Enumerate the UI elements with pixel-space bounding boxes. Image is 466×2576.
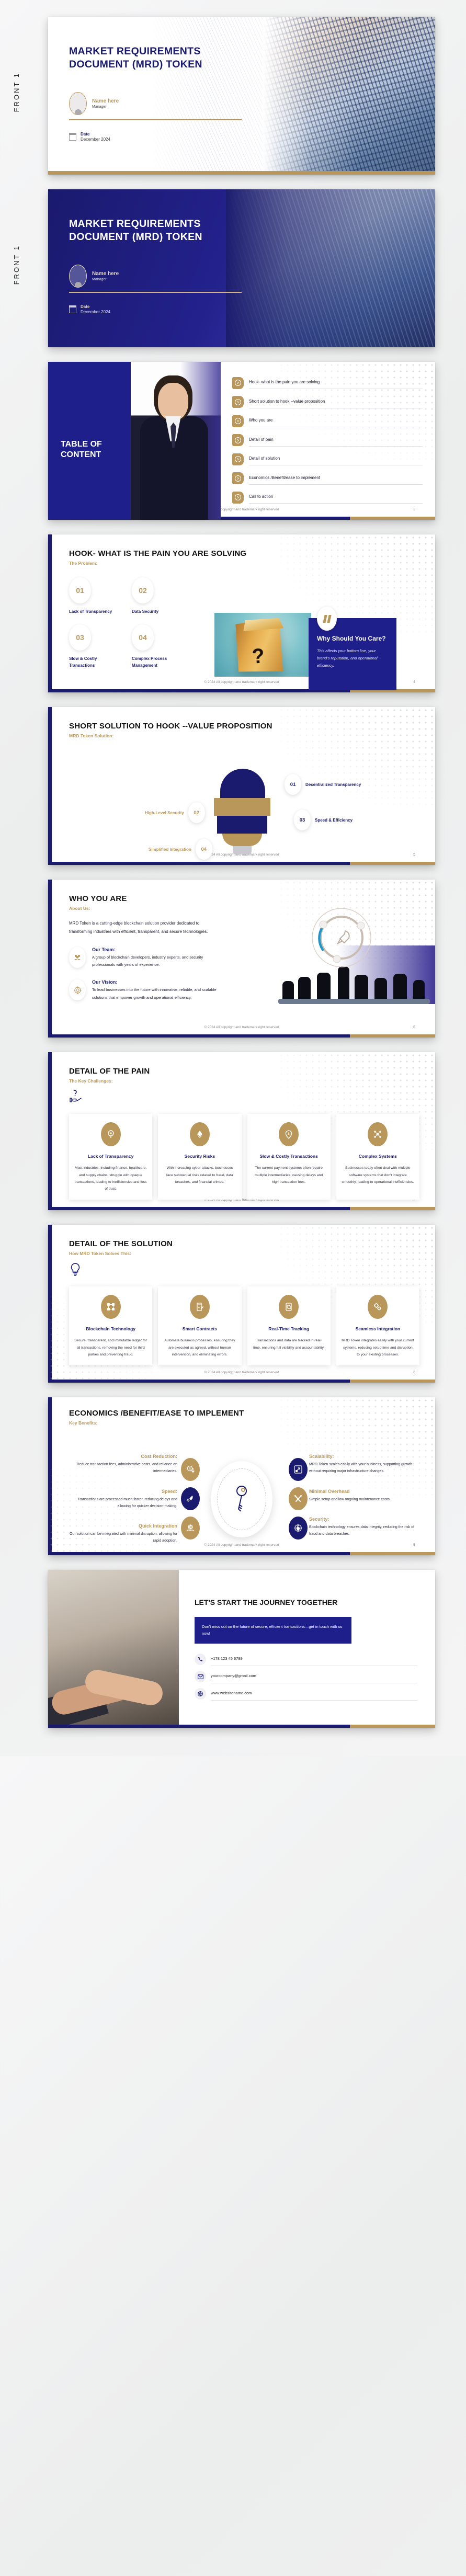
hook-title: HOOK- WHAT IS THE PAIN YOU ARE SOLVING — [69, 549, 435, 558]
solution-card-0[interactable]: Blockchain Technology Secure, transparen… — [69, 1286, 152, 1365]
chevron-right-icon — [232, 492, 244, 504]
globe-hands-icon — [181, 1517, 200, 1540]
toc-item-label-3: Detail of pain — [249, 437, 274, 442]
slide-4-hook: HOOK- WHAT IS THE PAIN YOU ARE SOLVING T… — [0, 527, 466, 700]
cover-date-value-navy: December 2024 — [81, 310, 110, 314]
pain-title: DETAIL OF THE PAIN — [69, 1067, 435, 1076]
hook-slide[interactable]: HOOK- WHAT IS THE PAIN YOU ARE SOLVING T… — [48, 534, 435, 692]
solution-card-2[interactable]: Real-Time Tracking Transactions and data… — [247, 1286, 331, 1365]
toc-item-5[interactable]: Economics /Benefit/ease to implement — [232, 469, 423, 488]
avatar-placeholder-icon — [69, 92, 87, 115]
blockchain-link-icon — [101, 1295, 121, 1319]
cover-date-value: December 2024 — [81, 137, 110, 142]
solution-card-body-0: Secure, transparent, and immutable ledge… — [74, 1337, 147, 1358]
hook-point-number-2: 03 — [69, 624, 91, 651]
calendar-icon — [69, 305, 76, 313]
who-item-body-1: To lead businesses into the future with … — [92, 986, 226, 1001]
cta-contact-value-1: yourcompany@gmail.com — [211, 1673, 256, 1678]
footer-page-number: 3 — [413, 508, 415, 511]
toc-item-6[interactable]: Call to action — [232, 488, 423, 507]
cta-contact-website[interactable]: www.websitename.com — [195, 1688, 417, 1701]
valueprop-item-1: High-Level Security 02 — [145, 802, 205, 823]
tools-icon — [289, 1487, 308, 1510]
pain-card-body-1: With increasing cyber-attacks, businesse… — [163, 1165, 236, 1186]
slide-8-detail-of-solution: DETAIL OF THE SOLUTION How MRD Token Sol… — [0, 1217, 466, 1390]
slide-side-label: FRONT 1 — [13, 72, 20, 112]
valueprop-label-2: Speed & Efficiency — [315, 818, 353, 823]
pain-card-title-2: Slow & Costly Transactions — [253, 1153, 325, 1160]
contract-pen-icon — [190, 1295, 210, 1319]
solution-card-body-2: Transactions and data are tracked in rea… — [253, 1337, 325, 1351]
cover-author-role: Manager — [92, 105, 119, 109]
who-item-heading-0: Our Team: — [92, 947, 226, 952]
cover-author-role-navy: Manager — [92, 278, 119, 281]
slide-footer: © 2024 All copyright and trademark right… — [48, 1025, 435, 1029]
footer-copyright: © 2024 All copyright and trademark right… — [204, 680, 279, 684]
who-item-team: Our Team: A group of blockchain develope… — [69, 947, 226, 969]
toc-list: Hook- what is the pain you are solving S… — [232, 373, 423, 507]
why-should-you-care-callout: Why Should You Care? This affects your b… — [309, 618, 396, 690]
economics-subtitle: Key Benefits: — [69, 1420, 435, 1426]
valueprop-num-1: 02 — [188, 802, 205, 823]
tracking-search-icon — [279, 1295, 299, 1319]
cover-author-block-navy: Name here Manager — [69, 265, 435, 288]
economics-heading-right-0: Scalability: — [309, 1454, 422, 1459]
pain-card-1[interactable]: Security Risks With increasing cyber-att… — [158, 1114, 241, 1200]
cover-title: MARKET REQUIREMENTS DOCUMENT (MRD) TOKEN — [69, 45, 226, 71]
cover-author-name: Name here — [92, 98, 119, 104]
cta-message-box: Don't miss out on the future of secure, … — [195, 1617, 351, 1643]
callout-body: This affects your bottom line, your bran… — [317, 647, 388, 669]
who-item-body-0: A group of blockchain developers, indust… — [92, 954, 226, 969]
toc-item-label-2: Who you are — [249, 418, 272, 423]
valueprop-item-0: 01 Decentralized Transparency — [285, 774, 361, 795]
who-subtitle: About Us: — [69, 906, 435, 911]
slide-9-economics: ECONOMICS /BENEFIT/EASE TO IMPLEMENT Key… — [0, 1390, 466, 1563]
cost-down-icon: $ — [181, 1458, 200, 1481]
cta-contact-value-2: www.websitename.com — [211, 1691, 252, 1695]
svg-text:$: $ — [288, 1133, 290, 1136]
slide-bottom-bars — [48, 1207, 435, 1210]
economics-item-left-2: Quick Integration Our solution can be in… — [65, 1523, 177, 1545]
solution-card-title-3: Seamless Integration — [342, 1325, 414, 1332]
pain-card-body-0: Most industries, including finance, heal… — [74, 1165, 147, 1192]
callout-heading: Why Should You Care? — [317, 634, 388, 643]
call-to-action-slide[interactable]: LET'S START THE JOURNEY TOGETHER Don't m… — [48, 1570, 435, 1728]
toc-item-1[interactable]: Short solution to hook --value propositi… — [232, 393, 423, 412]
who-you-are-slide[interactable]: WHO YOU ARE About Us: MRD Token is a cut… — [48, 880, 435, 1038]
globe-shield-icon — [289, 1517, 308, 1540]
toc-title-panel: TABLE OF CONTENT — [48, 362, 131, 520]
mystery-box-question-mark-image — [214, 613, 311, 677]
hook-point-label-3: Complex Process Management — [132, 656, 182, 669]
hook-point-label-0: Lack of Transparency — [69, 609, 119, 615]
cta-contact-phone[interactable]: +178 123 45 6789 — [195, 1653, 417, 1666]
solution-title: DETAIL OF THE SOLUTION — [69, 1239, 435, 1248]
calendar-icon — [69, 133, 76, 141]
valueprop-num-0: 01 — [285, 774, 301, 795]
slide-7-detail-of-pain: DETAIL OF THE PAIN The Key Challenges: — [0, 1045, 466, 1217]
solution-cards: Blockchain Technology Secure, transparen… — [69, 1286, 419, 1365]
cover-author-name-navy: Name here — [92, 271, 119, 277]
chevron-right-icon — [232, 415, 244, 427]
slide-5-value-proposition: SHORT SOLUTION TO HOOK --VALUE PROPOSITI… — [0, 700, 466, 872]
economics-body-left-1: Transactions are processed much faster, … — [65, 1496, 177, 1510]
slide-3-table-of-content: TABLE OF CONTENT Hook- what is the pain … — [0, 355, 466, 527]
slide-bottom-bars — [48, 1725, 435, 1728]
cover-title-navy: MARKET REQUIREMENTS DOCUMENT (MRD) TOKEN — [69, 218, 226, 244]
solution-card-body-3: MRD Token integrates easily with your cu… — [342, 1337, 414, 1358]
cover-divider-navy — [69, 292, 242, 293]
hook-point-2: 03 Slow & Costly Transactions — [69, 624, 127, 669]
solution-card-title-0: Blockchain Technology — [74, 1325, 147, 1332]
phone-icon — [195, 1654, 206, 1665]
pain-card-0[interactable]: Lack of Transparency Most industries, in… — [69, 1114, 152, 1200]
hook-point-0: 01 Lack of Transparency — [69, 577, 127, 615]
economics-heading-right-2: Security: — [309, 1517, 422, 1522]
pain-cards: Lack of Transparency Most industries, in… — [69, 1114, 419, 1200]
hand-question-icon — [69, 1090, 435, 1103]
gears-integration-icon — [368, 1295, 388, 1319]
slide-6-who-you-are: WHO YOU ARE About Us: MRD Token is a cut… — [0, 872, 466, 1045]
cover-slide[interactable]: MARKET REQUIREMENTS DOCUMENT (MRD) TOKEN… — [48, 17, 435, 175]
economics-body-left-2: Our solution can be integrated with mini… — [65, 1531, 177, 1545]
pain-card-body-3: Businesses today often deal with multipl… — [342, 1165, 414, 1186]
valueprop-label-1: High-Level Security — [145, 811, 184, 815]
economics-item-left-1: Speed: Transactions are processed much f… — [65, 1489, 177, 1510]
toc-item-label-5: Economics /Benefit/ease to implement — [249, 475, 320, 480]
footer-page-number: 8 — [413, 1371, 415, 1374]
pain-card-body-2: The current payment systems often requir… — [253, 1165, 325, 1186]
slide-10-call-to-action: LET'S START THE JOURNEY TOGETHER Don't m… — [0, 1563, 466, 1735]
footer-page-number: 4 — [413, 680, 415, 684]
economics-right-column: Scalability: MRD Token scales easily wit… — [309, 1454, 422, 1551]
slide-2-cover-navy: FRONT 1 MARKET REQUIREMENTS DOCUMENT (MR… — [0, 182, 466, 355]
economics-body-right-0: MRD Token scales easily with your busine… — [309, 1461, 422, 1475]
chevron-right-icon — [232, 377, 244, 389]
solution-card-title-2: Real-Time Tracking — [253, 1325, 325, 1332]
economics-item-right-2: Security: Blockchain technology ensures … — [309, 1517, 422, 1538]
economics-heading-left-1: Speed: — [65, 1489, 177, 1494]
who-item-vision: Our Vision: To lead businesses into the … — [69, 979, 226, 1001]
pain-card-title-1: Security Risks — [163, 1153, 236, 1160]
toc-title: TABLE OF CONTENT — [61, 439, 131, 460]
toc-item-label-6: Call to action — [249, 494, 273, 499]
cover-date-block: Date December 2024 — [69, 132, 435, 142]
toc-item-4[interactable]: Detail of solution — [232, 450, 423, 469]
valueprop-label-3: Simplified Integration — [149, 847, 191, 852]
slide-1-cover-white: FRONT 1 MARKET REQUIREMENTS DOCUMENT (MR… — [0, 9, 466, 182]
slide-bottom-bars — [48, 862, 435, 865]
toc-item-label-4: Detail of solution — [249, 456, 280, 461]
toc-item-2[interactable]: Who you are — [232, 412, 423, 431]
cover-divider — [69, 119, 242, 120]
hook-point-label-1: Data Security — [132, 609, 182, 615]
economics-title: ECONOMICS /BENEFIT/EASE TO IMPLEMENT — [69, 1409, 435, 1418]
detail-of-solution-slide[interactable]: DETAIL OF THE SOLUTION How MRD Token Sol… — [48, 1225, 435, 1383]
cover-slide-navy[interactable]: MARKET REQUIREMENTS DOCUMENT (MRD) TOKEN… — [48, 189, 435, 347]
detail-of-pain-slide[interactable]: DETAIL OF THE PAIN The Key Challenges: — [48, 1052, 435, 1210]
value-proposition-slide[interactable]: SHORT SOLUTION TO HOOK --VALUE PROPOSITI… — [48, 707, 435, 865]
svg-text:$: $ — [189, 1467, 191, 1471]
solution-card-1[interactable]: Smart Contracts Automate business proces… — [158, 1286, 241, 1365]
hook-point-1: 02 Data Security — [132, 577, 189, 615]
footer-copyright: © 2024 All copyright and trademark right… — [204, 1025, 279, 1029]
economics-body-right-2: Blockchain technology ensures data integ… — [309, 1524, 422, 1538]
team-people-icon — [69, 947, 86, 968]
chevron-right-icon — [232, 396, 244, 408]
valueprop-label-0: Decentralized Transparency — [305, 782, 361, 787]
cta-contact-list: +178 123 45 6789 yourcompany@gmail.com w… — [195, 1653, 417, 1701]
solution-card-body-1: Automate business processes, ensuring th… — [163, 1337, 236, 1358]
toc-item-3[interactable]: Detail of pain — [232, 431, 423, 450]
hook-point-number-3: 04 — [132, 624, 154, 651]
handshake-image — [48, 1570, 179, 1728]
hook-point-label-2: Slow & Costly Transactions — [69, 656, 119, 669]
lightbulb-icon — [69, 1262, 435, 1276]
slide-footer: © 2024 All copyright and trademark right… — [48, 1371, 435, 1374]
economics-left-column: Cost Reduction: Reduce transaction fees,… — [65, 1454, 177, 1555]
footer-copyright: © 2024 All copyright and trademark right… — [204, 1371, 279, 1374]
chevron-right-icon — [232, 472, 244, 484]
footer-page-number: 6 — [413, 1025, 415, 1029]
who-item-heading-1: Our Vision: — [92, 979, 226, 985]
scale-expand-icon — [289, 1458, 308, 1481]
valueprop-num-3: 04 — [196, 839, 212, 860]
presenter-photo-image — [131, 362, 221, 520]
magnifier-icon — [101, 1122, 121, 1146]
target-compass-icon — [69, 979, 86, 1000]
economics-slide[interactable]: ECONOMICS /BENEFIT/EASE TO IMPLEMENT Key… — [48, 1397, 435, 1555]
pain-subtitle: The Key Challenges: — [69, 1078, 435, 1084]
cover-bottom-bar — [48, 171, 435, 175]
quote-icon — [317, 607, 337, 631]
chevron-right-icon — [232, 453, 244, 465]
economics-heading-right-1: Minimal Overhead — [309, 1489, 422, 1494]
valueprop-num-2: 03 — [294, 810, 311, 830]
toc-item-label-1: Short solution to hook --value propositi… — [249, 399, 325, 404]
toc-slide[interactable]: TABLE OF CONTENT Hook- what is the pain … — [48, 362, 435, 520]
slide-bottom-bars — [48, 1380, 435, 1383]
cta-content-panel: LET'S START THE JOURNEY TOGETHER Don't m… — [179, 1570, 435, 1728]
warning-shield-icon — [190, 1122, 210, 1146]
footer-copyright: © 2024 All copyright and trademark right… — [204, 1543, 279, 1547]
hook-point-3: 04 Complex Process Management — [132, 624, 189, 669]
chevron-right-icon — [232, 434, 244, 446]
rocket-icon — [181, 1487, 200, 1510]
economics-item-left-0: Cost Reduction: Reduce transaction fees,… — [65, 1454, 177, 1475]
mail-icon — [195, 1671, 206, 1682]
slide-side-label-2: FRONT 1 — [13, 245, 20, 284]
valueprop-item-2: 03 Speed & Efficiency — [294, 810, 353, 830]
economics-body-left-0: Reduce transaction fees, administrative … — [65, 1461, 177, 1475]
economics-item-right-0: Scalability: MRD Token scales easily wit… — [309, 1454, 422, 1475]
valueprop-item-3: Simplified Integration 04 — [149, 839, 212, 860]
cta-contact-email[interactable]: yourcompany@gmail.com — [195, 1670, 417, 1683]
cta-contact-value-0: +178 123 45 6789 — [211, 1656, 243, 1661]
slide-deck: FRONT 1 MARKET REQUIREMENTS DOCUMENT (MR… — [0, 0, 466, 1756]
globe-icon — [195, 1688, 206, 1700]
key-icon — [211, 1461, 272, 1537]
pain-card-3[interactable]: Complex Systems Businesses today often d… — [336, 1114, 419, 1200]
hook-subtitle: The Problem: — [69, 561, 435, 566]
economics-heading-left-2: Quick Integration — [65, 1523, 177, 1529]
money-pin-icon: $ — [279, 1122, 299, 1146]
avatar-placeholder-icon — [69, 265, 87, 288]
valueprop-subtitle: MRD Token Solution: — [69, 733, 435, 738]
economics-body-right-1: Simple setup and low ongoing maintenance… — [309, 1496, 422, 1503]
who-title: WHO YOU ARE — [69, 894, 435, 903]
solution-card-3[interactable]: Seamless Integration MRD Token integrate… — [336, 1286, 419, 1365]
cover-date-label: Date — [81, 132, 110, 136]
network-nodes-icon — [368, 1122, 388, 1146]
economics-heading-left-0: Cost Reduction: — [65, 1454, 177, 1459]
toc-item-0[interactable]: Hook- what is the pain you are solving — [232, 373, 423, 393]
slide-bottom-bars — [48, 1034, 435, 1038]
cta-title: LET'S START THE JOURNEY TOGETHER — [195, 1597, 417, 1608]
hook-point-number-0: 01 — [69, 577, 91, 603]
economics-item-right-1: Minimal Overhead Simple setup and low on… — [309, 1489, 422, 1503]
footer-page-number: 5 — [413, 853, 415, 857]
pain-card-2[interactable]: $ Slow & Costly Transactions The current… — [247, 1114, 331, 1200]
cover-date-block-navy: Date December 2024 — [69, 304, 435, 314]
hook-point-number-1: 02 — [132, 577, 154, 603]
lightbulb-infographic — [213, 769, 271, 857]
cover-author-block: Name here Manager — [69, 92, 435, 115]
solution-card-title-1: Smart Contracts — [163, 1325, 236, 1332]
solution-subtitle: How MRD Token Solves This: — [69, 1251, 435, 1256]
pain-card-title-0: Lack of Transparency — [74, 1153, 147, 1160]
who-intro-paragraph: MRD Token is a cutting-edge blockchain s… — [69, 919, 209, 937]
pain-card-title-3: Complex Systems — [342, 1153, 414, 1160]
toc-item-label-0: Hook- what is the pain you are solving — [249, 380, 320, 384]
valueprop-title: SHORT SOLUTION TO HOOK --VALUE PROPOSITI… — [69, 722, 435, 731]
cover-date-label-navy: Date — [81, 304, 110, 309]
